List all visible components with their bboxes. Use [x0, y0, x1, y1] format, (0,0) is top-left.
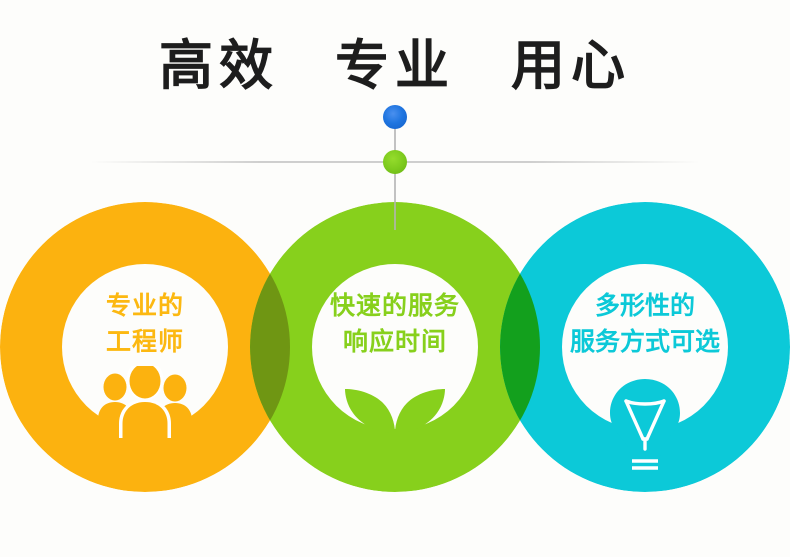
- ring-flexible[interactable]: [500, 202, 790, 492]
- infographic-canvas: 高效 专业 用心: [0, 0, 790, 557]
- ring-response[interactable]: [250, 202, 540, 492]
- heading-word-1: 高效: [159, 39, 279, 93]
- heading-word-2: 专业: [335, 39, 455, 93]
- heading-word-3: 用心: [511, 39, 631, 93]
- ring-engineer[interactable]: [0, 202, 290, 492]
- page-title: 高效 专业 用心: [0, 30, 790, 102]
